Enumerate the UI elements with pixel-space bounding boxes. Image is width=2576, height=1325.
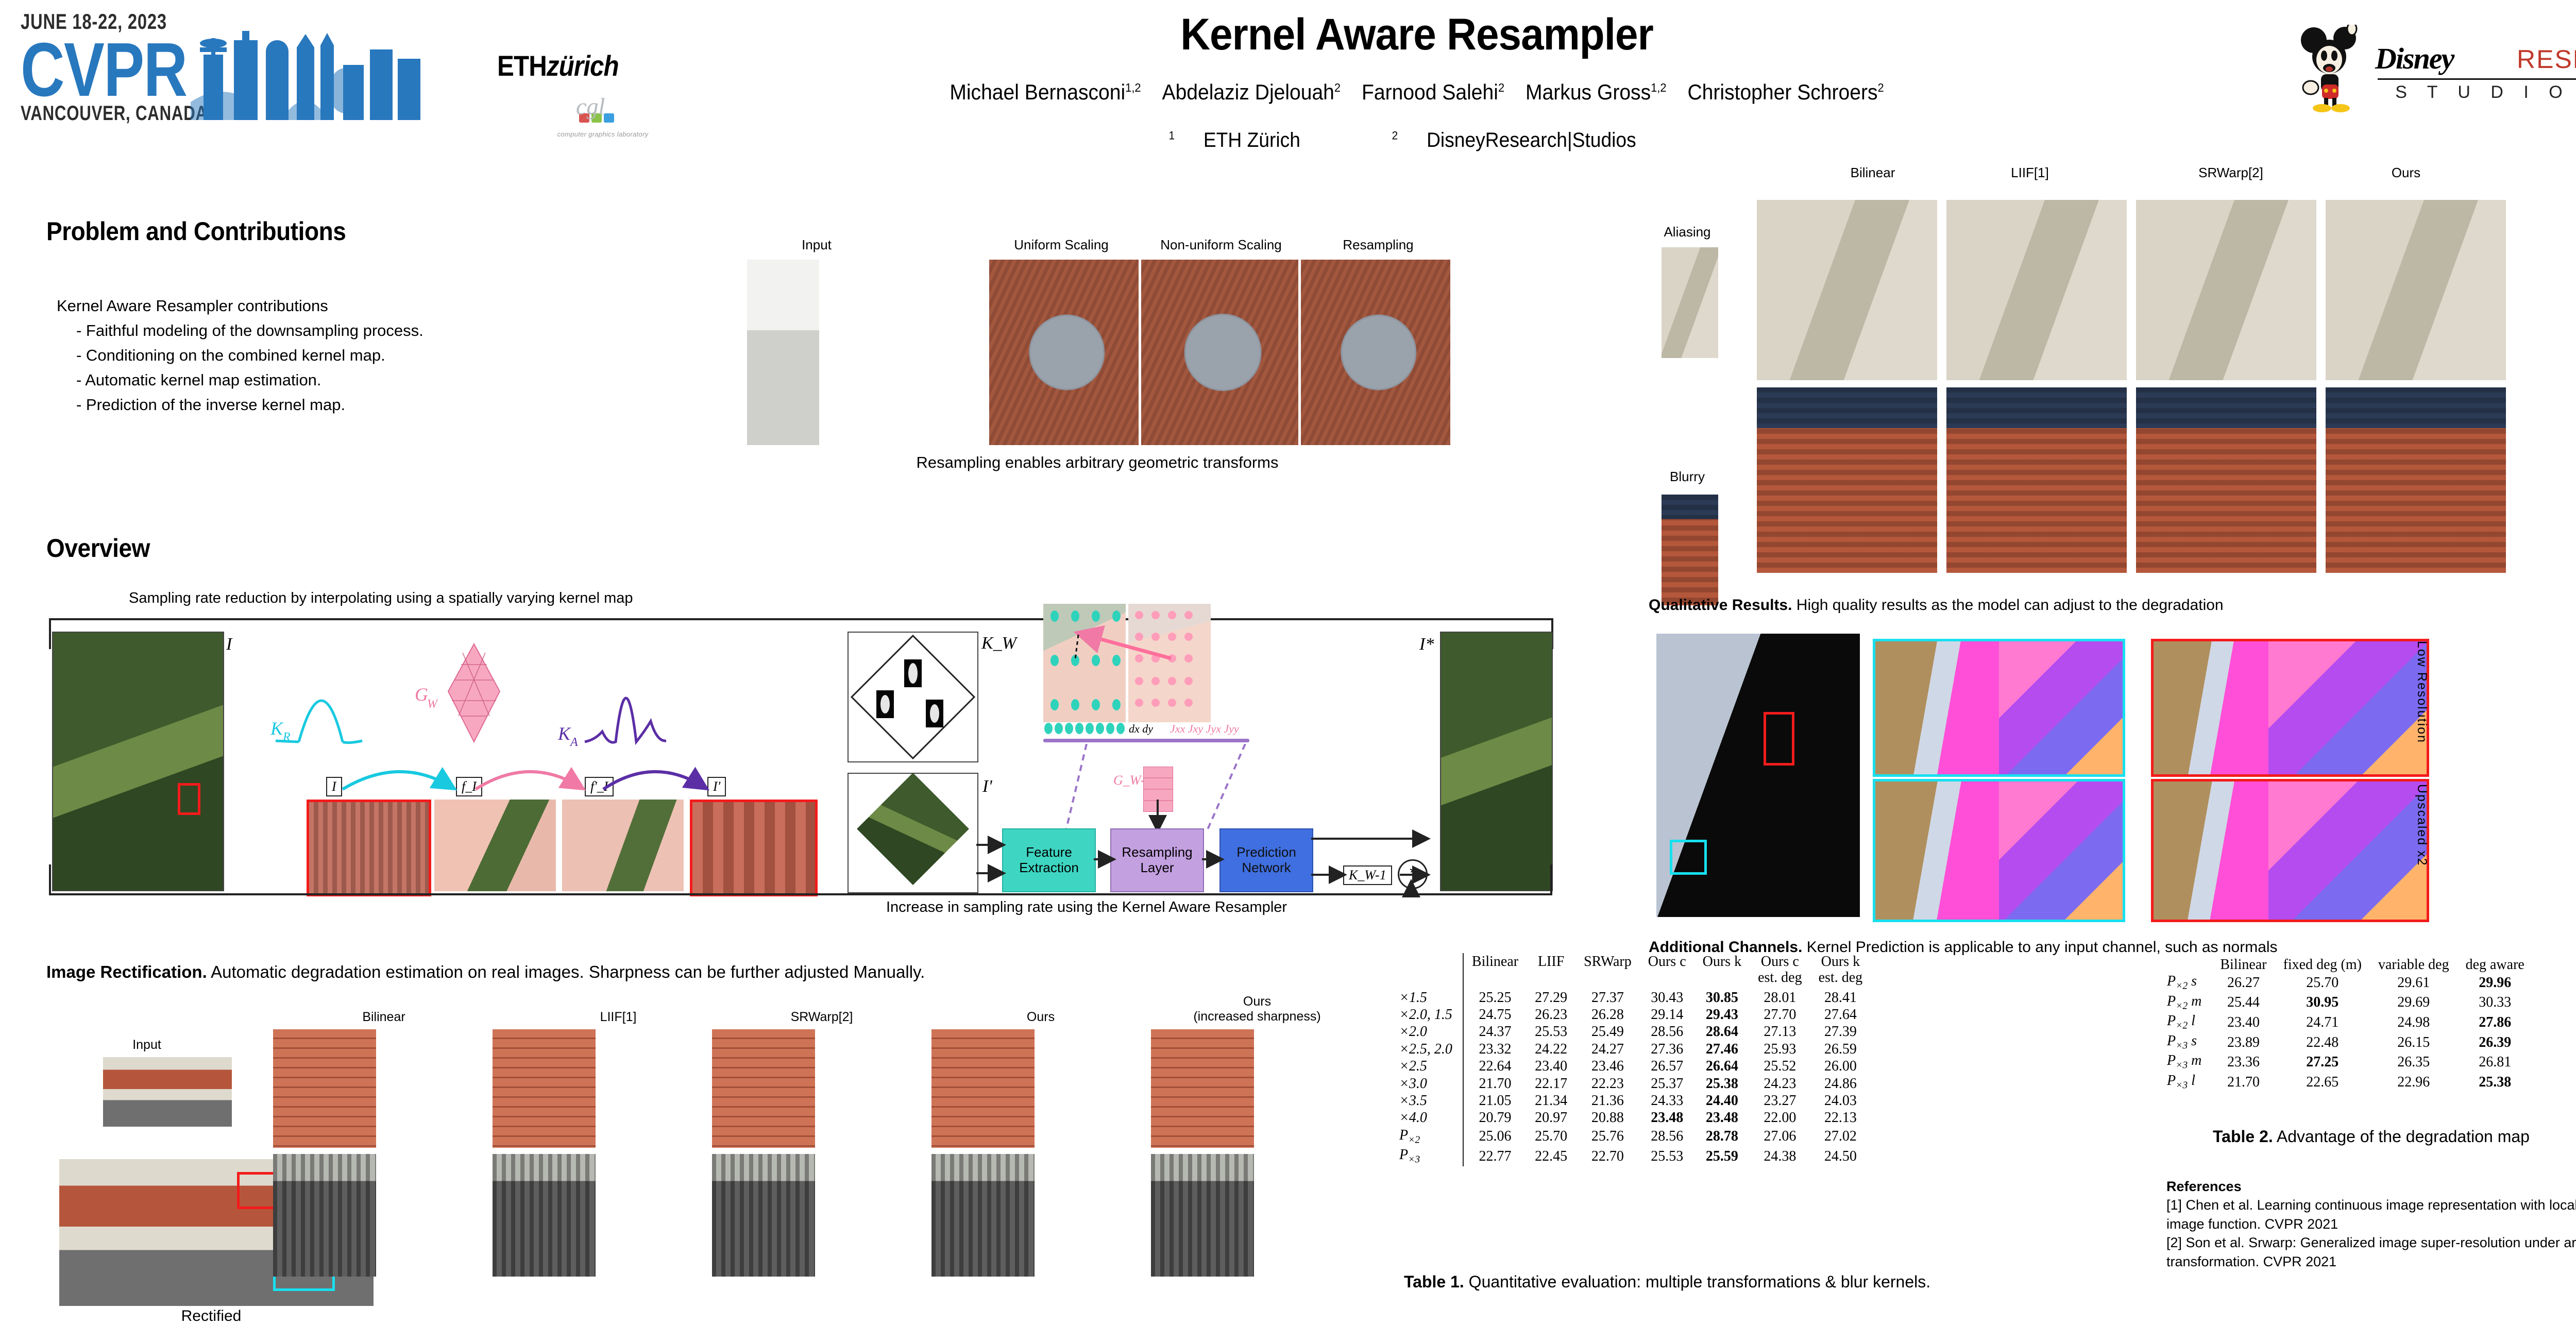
table-cell: 25.59 [1694, 1146, 1750, 1166]
overview-crop-pixelated [307, 800, 431, 896]
overview-crop-features [434, 800, 556, 891]
table-cell: 24.98 [2370, 1012, 2458, 1032]
diagram-left-tick [49, 618, 51, 649]
rect-crop-brick-ours [931, 1029, 1035, 1148]
table-row-label: ×2.5 [1391, 1058, 1463, 1075]
table-cell: 24.71 [2275, 1012, 2370, 1032]
table-cell: 25.53 [1527, 1023, 1575, 1040]
qualitative-image-blurry-liif [1946, 387, 2127, 573]
overview-bottom-caption: Increase in sampling rate using the Kern… [886, 899, 1287, 916]
rect-col-liif: LIIF[1] [562, 1010, 675, 1025]
table-col-subheader: est. deg [1810, 970, 1871, 989]
table-col-header: deg aware [2458, 956, 2533, 973]
table-cell: 28.56 [1640, 1127, 1694, 1147]
additional-side-label-upscaled: Upscaled x2 [2415, 784, 2429, 913]
rectification-caption: Image Rectification. Automatic degradati… [46, 962, 925, 982]
cgl-caption: computer graphics laboratory [536, 130, 670, 138]
author-name: Michael Bernasconi [950, 80, 1125, 104]
table-row: P×3 s23.8922.4826.1526.39 [2159, 1032, 2533, 1052]
table-cell: 22.96 [2370, 1072, 2458, 1092]
eth-bold-text: ETH [497, 49, 547, 82]
additional-channels-figure: Low Resolution Upscaled x2 [1656, 634, 2576, 922]
eth-zurich-logo: ETHzürich [497, 49, 719, 82]
table-cell: 28.41 [1810, 989, 1871, 1006]
table-row: ×1.525.2527.2927.3730.4330.8528.0128.41 [1391, 989, 1871, 1006]
table-cell: 28.64 [1694, 1023, 1750, 1040]
table-row-label: P×3 m [2159, 1052, 2212, 1072]
author: Michael Bernasconi1,2 [950, 80, 1141, 104]
overview-crop-downsampled [690, 800, 818, 896]
table-cell: 26.59 [1810, 1041, 1871, 1058]
table-cell: 22.00 [1750, 1109, 1810, 1126]
table-row-label: P×3 [1391, 1146, 1463, 1166]
table-row: P×3 m23.3627.2526.3526.81 [2159, 1052, 2533, 1072]
table-col-subheader [1463, 970, 1527, 989]
author-name: Abdelaziz Djelouah [1162, 80, 1334, 104]
teaser-label-input: Input [742, 237, 891, 253]
affil-marker: 1 [1168, 129, 1175, 142]
table-1-caption-rest: Quantitative evaluation: multiple transf… [1469, 1272, 1930, 1291]
table-col-subheader [1575, 970, 1640, 989]
qualitative-caption-rest: High quality results as the model can ad… [1792, 597, 2223, 614]
table-col-header [2159, 956, 2212, 973]
additional-marker-red [1764, 712, 1794, 766]
rect-col-ours-sharp: Ours (increased sharpness) [1164, 994, 1350, 1024]
vancouver-skyline-icon [191, 25, 428, 120]
author-affil-marker: 1,2 [1651, 81, 1666, 94]
rect-image-input [103, 1057, 232, 1127]
table-cell: 24.50 [1810, 1146, 1871, 1166]
table-cell: 25.52 [1750, 1058, 1810, 1075]
qualitative-col-liif: LIIF[1] [1978, 165, 2081, 181]
table-row-label: P×2 l [2159, 1012, 2212, 1032]
qualitative-col-bilinear: Bilinear [1821, 165, 1924, 181]
author-name: Farnood Salehi [1362, 80, 1498, 104]
contributions-intro: Kernel Aware Resampler contributions [57, 294, 623, 318]
author-affil-marker: 2 [1334, 81, 1341, 94]
svg-text:R: R [282, 731, 291, 744]
table-1-caption-bold: Table 1. [1404, 1272, 1464, 1291]
table-row-label: ×2.0, 1.5 [1391, 1006, 1463, 1023]
references-heading: References [2166, 1177, 2576, 1196]
qualitative-caption: Qualitative Results. High quality result… [1649, 597, 2224, 614]
table-cell: 21.36 [1575, 1092, 1640, 1109]
table-cell: 27.39 [1810, 1023, 1871, 1040]
overview-symbol-Iprime: I' [982, 777, 992, 796]
affiliation: 1ETH Zürich [1168, 129, 1329, 151]
qualitative-results-figure: Bilinear LIIF[1] SRWarp[2] Ours Aliasing… [1638, 165, 2576, 577]
contribution-item: - Faithful modeling of the downsampling … [76, 318, 623, 343]
overview-keypoint-dots [1043, 604, 1213, 727]
reference-item: [1] Chen et al. Learning continuous imag… [2166, 1196, 2576, 1233]
table-cell: 26.00 [1810, 1058, 1871, 1075]
table-row: ×2.024.3725.5325.4928.5628.6427.1327.39 [1391, 1023, 1871, 1040]
qualitative-thumb-blurry [1662, 495, 1718, 605]
additional-side-label-lowres: Low Resolution [2415, 641, 2429, 770]
table-cell: 29.43 [1694, 1006, 1750, 1023]
table-cell: 20.79 [1463, 1109, 1527, 1126]
table-cell: 28.01 [1750, 989, 1810, 1006]
teaser-caption: Resampling enables arbitrary geometric t… [742, 453, 1453, 472]
author: Christopher Schroers2 [1687, 80, 1884, 104]
author-name: Christopher Schroers [1687, 80, 1877, 104]
table-col-header: Bilinear [1463, 953, 1527, 970]
eth-wordmark: ETHzürich [497, 49, 692, 82]
table-cell: 24.03 [1810, 1092, 1871, 1109]
author: Farnood Salehi2 [1362, 80, 1504, 104]
table-cell: 23.36 [2212, 1052, 2275, 1072]
overview-crop-warped [562, 800, 684, 891]
rect-crop-brick-bilinear [273, 1029, 376, 1148]
author-name: Markus Gross [1526, 80, 1651, 104]
rect-crop-grill-liif [493, 1154, 596, 1277]
rect-crop-brick-liif [493, 1029, 596, 1148]
additional-marker-cyan [1670, 840, 1707, 875]
cgl-logo: cgl cgl computer graphics laboratory [536, 93, 670, 138]
table-cell: 27.64 [1810, 1006, 1871, 1023]
diagram-top-rule [49, 618, 1553, 620]
table-cell: 26.81 [2458, 1052, 2533, 1072]
overview-flow-arrows [337, 757, 739, 799]
table-col-header: Ours c [1640, 953, 1694, 970]
overview-block-arrows [961, 814, 1455, 907]
table-cell: 24.40 [1694, 1092, 1750, 1109]
table-row: ×2.5, 2.023.3224.2224.2727.3627.4625.932… [1391, 1041, 1871, 1058]
table-row-label: ×3.5 [1391, 1092, 1463, 1109]
table-row-label: P×2 m [2159, 993, 2212, 1013]
overview-symbol-I: I [226, 635, 232, 654]
table-cell: 27.02 [1810, 1127, 1871, 1147]
table-cell: 23.32 [1463, 1041, 1527, 1058]
teaser-figure: Input Uniform Scaling Non-uniform Scalin… [742, 237, 1453, 489]
section-heading-problem: Problem and Contributions [46, 216, 346, 246]
disney-studios-text: S T U D I O S [2378, 82, 2576, 103]
qualitative-row-aliasing: Aliasing [1638, 224, 1736, 240]
contribution-item: - Automatic kernel map estimation. [76, 368, 623, 393]
table-cell: 24.37 [1463, 1023, 1527, 1040]
additional-caption-rest: Kernel Prediction is applicable to any i… [1802, 939, 2277, 956]
rect-col-ours: Ours [989, 1010, 1092, 1025]
qualitative-col-srwarp: SRWarp[2] [2174, 165, 2287, 181]
overview-panel-KW [848, 632, 978, 762]
table-col-header: LIIF [1527, 953, 1575, 970]
teaser-image-uniform [989, 260, 1139, 445]
table-cell: 27.06 [1750, 1127, 1810, 1147]
contribution-item: - Prediction of the inverse kernel map. [76, 393, 623, 417]
qualitative-image-aliasing-liif [1946, 200, 2127, 380]
table-cell: 24.33 [1640, 1092, 1694, 1109]
table-cell: 25.37 [1640, 1075, 1694, 1092]
svg-text:A: A [569, 736, 578, 749]
table-cell: 25.25 [1463, 989, 1527, 1006]
overview-top-caption: Sampling rate reduction by interpolating… [129, 590, 633, 607]
additional-crop-cyan-upscaled [1873, 779, 2125, 922]
table-row: ×2.0, 1.524.7526.2326.2829.1429.4327.702… [1391, 1006, 1871, 1023]
svg-text:cgl: cgl [576, 93, 605, 120]
overview-image-I [52, 632, 224, 891]
table-cell: 28.78 [1694, 1127, 1750, 1147]
rectification-caption-rest: Automatic degradation estimation on real… [207, 962, 925, 981]
table-row: P×322.7722.4522.7025.5325.5924.3824.50 [1391, 1146, 1871, 1166]
rectification-caption-bold: Image Rectification. [46, 962, 207, 981]
teaser-image-nonuniform [1141, 260, 1298, 445]
table-cell: 21.70 [2212, 1072, 2275, 1092]
table-cell: 27.25 [2275, 1052, 2370, 1072]
qualitative-image-aliasing-ours [2326, 200, 2506, 380]
table-cell: 25.38 [2458, 1072, 2533, 1092]
table-cell: 22.23 [1575, 1075, 1640, 1092]
qualitative-image-aliasing-bilinear [1757, 200, 1937, 380]
svg-text:K: K [557, 723, 571, 744]
table-cell: 30.33 [2458, 993, 2533, 1013]
table-cell: 26.39 [2458, 1032, 2533, 1052]
table-cell: 27.37 [1575, 989, 1640, 1006]
table-cell: 24.38 [1750, 1146, 1810, 1166]
author: Markus Gross1,2 [1526, 80, 1666, 104]
affiliation: 2DisneyResearch|Studios [1392, 129, 1665, 151]
page-title: Kernel Aware Resampler [794, 9, 2040, 60]
table-cell: 25.44 [2212, 993, 2275, 1013]
table-cell: 26.35 [2370, 1052, 2458, 1072]
qualitative-caption-bold: Qualitative Results. [1649, 597, 1792, 614]
table-row: P×2 s26.2725.7029.6129.96 [2159, 973, 2533, 993]
table-cell: 26.57 [1640, 1058, 1694, 1075]
table-col-header [1391, 953, 1463, 970]
author-list: Michael Bernasconi1,2Abdelaziz Djelouah2… [794, 80, 2040, 105]
table-col-header: Ours c [1750, 953, 1810, 970]
table-2-caption-bold: Table 2. [2213, 1127, 2273, 1146]
section-heading-overview: Overview [46, 533, 150, 563]
disney-divider [2378, 78, 2576, 80]
table-cell: 27.29 [1527, 989, 1575, 1006]
table-cell: 30.85 [1694, 989, 1750, 1006]
table-cell: 27.13 [1750, 1023, 1810, 1040]
table-cell: 25.38 [1694, 1075, 1750, 1092]
table-row-label: P×2 [1391, 1127, 1463, 1147]
rect-label-input: Input [82, 1038, 211, 1052]
table-row-label: ×2.0 [1391, 1023, 1463, 1040]
table-row-label: ×2.5, 2.0 [1391, 1041, 1463, 1058]
table-col-subheader [1640, 970, 1694, 989]
table-col-header: Ours k [1694, 953, 1750, 970]
table-cell: 27.46 [1694, 1041, 1750, 1058]
affiliation-list: 1ETH Zürich 2DisneyResearch|Studios [794, 129, 2040, 152]
table-cell: 20.88 [1575, 1109, 1640, 1126]
table-col-header: Ours k [1810, 953, 1871, 970]
table-row-label: ×3.0 [1391, 1075, 1463, 1092]
table-cell: 23.48 [1694, 1109, 1750, 1126]
table-cell: 23.27 [1750, 1092, 1810, 1109]
table-cell: 21.05 [1463, 1092, 1527, 1109]
table-2-caption: Table 2. Advantage of the degradation ma… [2213, 1127, 2530, 1146]
table-cell: 20.97 [1527, 1109, 1575, 1126]
eth-rest-text: zürich [547, 49, 619, 82]
affil-name: ETH Zürich [1204, 129, 1300, 151]
overview-crop-marker-I [178, 783, 200, 815]
table-cell: 24.86 [1810, 1075, 1871, 1092]
svg-text:K: K [270, 718, 284, 739]
references-block: References [1] Chen et al. Learning cont… [2166, 1177, 2576, 1271]
table-cell: 30.95 [2275, 993, 2370, 1013]
table-cell: 23.40 [2212, 1012, 2275, 1032]
table-cell: 29.14 [1640, 1006, 1694, 1023]
table-cell: 23.40 [1527, 1058, 1575, 1075]
table-cell: 23.48 [1640, 1109, 1694, 1126]
author-affil-marker: 1,2 [1125, 81, 1141, 94]
table-cell: 29.69 [2370, 993, 2458, 1013]
table-col-header: variable deg [2370, 956, 2458, 973]
qualitative-image-blurry-ours [2326, 387, 2506, 573]
overview-diagram: I K R G W K A I f_I f'_I I' [49, 618, 1569, 896]
qualitative-image-blurry-srwarp [2136, 387, 2316, 573]
table-row: ×3.021.7022.1722.2325.3725.3824.2324.86 [1391, 1075, 1871, 1092]
table-cell: 26.27 [2212, 973, 2275, 993]
qualitative-col-ours: Ours [2354, 165, 2458, 181]
table-cell: 24.27 [1575, 1041, 1640, 1058]
rect-crop-brick-ours-sharp [1151, 1029, 1254, 1148]
teaser-image-resampling [1301, 260, 1450, 445]
table-cell: 24.75 [1463, 1006, 1527, 1023]
table-cell: 23.89 [2212, 1032, 2275, 1052]
additional-crop-red-upscaled [2151, 779, 2429, 922]
table-col-header: SRWarp [1575, 953, 1640, 970]
disney-research-text: RESEARCH [2517, 44, 2576, 74]
table-cell: 25.70 [1527, 1127, 1575, 1147]
table-cell: 27.70 [1750, 1006, 1810, 1023]
diagram-bottom-rule [49, 893, 1552, 895]
disney-wordmark: Disney [2375, 41, 2453, 76]
table-2-caption-rest: Advantage of the degradation map [2277, 1127, 2530, 1146]
rect-crop-grill-bilinear [273, 1154, 376, 1277]
author: Abdelaziz Djelouah2 [1162, 80, 1341, 104]
overview-image-Istar [1440, 632, 1553, 891]
author-affil-marker: 2 [1878, 81, 1884, 94]
table-row: P×2 l23.4024.7124.9827.86 [2159, 1012, 2533, 1032]
table-col-subheader [1391, 970, 1463, 989]
table-cell: 29.96 [2458, 973, 2533, 993]
table-row-label: P×3 l [2159, 1072, 2212, 1092]
svg-text:G: G [415, 684, 428, 705]
additional-crop-red-lowres [2151, 639, 2429, 777]
contributions-list: Kernel Aware Resampler contributions - F… [57, 294, 623, 417]
table-row: ×3.521.0521.3421.3624.3324.4023.2724.03 [1391, 1092, 1871, 1109]
author-affil-marker: 2 [1498, 81, 1504, 94]
rect-crop-brick-srwarp [712, 1029, 815, 1148]
table-row-label: P×3 s [2159, 1032, 2212, 1052]
table-1-caption: Table 1. Quantitative evaluation: multip… [1404, 1272, 1930, 1292]
table-cell: 22.13 [1810, 1109, 1871, 1126]
table-cell: 26.15 [2370, 1032, 2458, 1052]
svg-text:W: W [427, 698, 438, 711]
cgl-mark-icon: cgl cgl [572, 93, 634, 127]
rect-crop-grill-srwarp [712, 1154, 815, 1277]
cvpr-logo: JUNE 18-22, 2023 CVPR VANCOUVER, CANADA [21, 9, 433, 128]
table-cell: 22.17 [1527, 1075, 1575, 1092]
table-row-label: P×2 s [2159, 973, 2212, 993]
table-row: ×4.020.7920.9720.8823.4823.4822.0022.13 [1391, 1109, 1871, 1126]
rectification-figure: Bilinear LIIF[1] SRWarp[2] Ours Ours (in… [46, 999, 1412, 1314]
svg-text:dx dy: dx dy [1129, 722, 1153, 735]
rect-col-srwarp: SRWarp[2] [757, 1010, 886, 1025]
overview-symbol-KW: K_W [981, 634, 1016, 653]
reference-item: [2] Son et al. Srwarp: Generalized image… [2166, 1233, 2576, 1271]
table-cell: 28.56 [1640, 1023, 1694, 1040]
table-cell: 24.23 [1750, 1075, 1810, 1092]
table-row-label: ×1.5 [1391, 989, 1463, 1006]
affil-marker: 2 [1392, 129, 1398, 142]
contribution-item: - Conditioning on the combined kernel ma… [76, 343, 623, 368]
table-cell: 26.23 [1527, 1006, 1575, 1023]
qualitative-image-blurry-bilinear [1757, 387, 1937, 573]
table-cell: 27.86 [2458, 1012, 2533, 1032]
rect-crop-grill-ours-sharp [1151, 1154, 1254, 1277]
table-cell: 22.48 [2275, 1032, 2370, 1052]
table-cell: 23.46 [1575, 1058, 1640, 1075]
table-2: Bilinearfixed deg (m)variable degdeg awa… [2159, 956, 2533, 1092]
table-cell: 26.64 [1694, 1058, 1750, 1075]
affil-name: DisneyResearch|Studios [1427, 129, 1636, 151]
table-row: P×3 l21.7022.6522.9625.38 [2159, 1072, 2533, 1092]
table-cell: 29.61 [2370, 973, 2458, 993]
table-cell: 25.06 [1463, 1127, 1527, 1147]
table-cell: 22.77 [1463, 1146, 1527, 1166]
qualitative-thumb-aliasing [1662, 247, 1718, 358]
table-col-subheader [1527, 970, 1575, 989]
table-cell: 22.70 [1575, 1146, 1640, 1166]
rect-col-bilinear: Bilinear [319, 1010, 448, 1025]
table-cell: 24.22 [1527, 1041, 1575, 1058]
teaser-label-nonuniform: Non-uniform Scaling [1139, 237, 1303, 253]
table-cell: 22.45 [1527, 1146, 1575, 1166]
rect-crop-grill-ours [931, 1154, 1035, 1277]
table-col-header: fixed deg (m) [2275, 956, 2370, 973]
table-col-header: Bilinear [2212, 956, 2275, 973]
diagram-bottom-right-tick [1550, 864, 1552, 894]
table-cell: 21.34 [1527, 1092, 1575, 1109]
overview-kernel-curves: K R G W K A [270, 639, 724, 773]
overview-panel-Iprime [848, 773, 978, 893]
teaser-label-uniform: Uniform Scaling [984, 237, 1139, 253]
table-cell: 26.28 [1575, 1006, 1640, 1023]
qualitative-row-blurry: Blurry [1638, 469, 1736, 485]
table-cell: 25.70 [2275, 973, 2370, 993]
disney-research-studios-logo: Disney RESEARCH S T U D I O S [2295, 21, 2576, 118]
table-cell: 25.53 [1640, 1146, 1694, 1166]
table-row-label: ×4.0 [1391, 1109, 1463, 1126]
teaser-label-resampling: Resampling [1303, 237, 1453, 253]
overview-symbol-Istar: I* [1419, 635, 1434, 654]
table-cell: 25.93 [1750, 1041, 1810, 1058]
diagram-bottom-left-tick [49, 864, 51, 894]
table-cell: 30.43 [1640, 989, 1694, 1006]
qualitative-image-aliasing-srwarp [2136, 200, 2316, 380]
table-1: BilinearLIIFSRWarpOurs cOurs kOurs cOurs… [1391, 953, 1871, 1166]
table-cell: 22.65 [2275, 1072, 2370, 1092]
teaser-image-input [747, 260, 819, 445]
rect-label-rectified: Rectified [98, 1307, 325, 1325]
table-cell: 27.36 [1640, 1041, 1694, 1058]
table-col-subheader [1694, 970, 1750, 989]
table-col-subheader: est. deg [1750, 970, 1810, 989]
additional-crop-cyan-lowres [1873, 639, 2125, 777]
svg-text:Jxx Jxy Jyx Jyy: Jxx Jxy Jyx Jyy [1170, 722, 1239, 735]
table-row: ×2.522.6423.4023.4626.5726.6425.5226.00 [1391, 1058, 1871, 1075]
mickey-mouse-icon [2295, 25, 2372, 112]
table-cell: 25.76 [1575, 1127, 1640, 1147]
table-row: P×2 m25.4430.9529.6930.33 [2159, 993, 2533, 1013]
table-row: P×225.0625.7025.7628.5628.7827.0627.02 [1391, 1127, 1871, 1147]
table-cell: 22.64 [1463, 1058, 1527, 1075]
